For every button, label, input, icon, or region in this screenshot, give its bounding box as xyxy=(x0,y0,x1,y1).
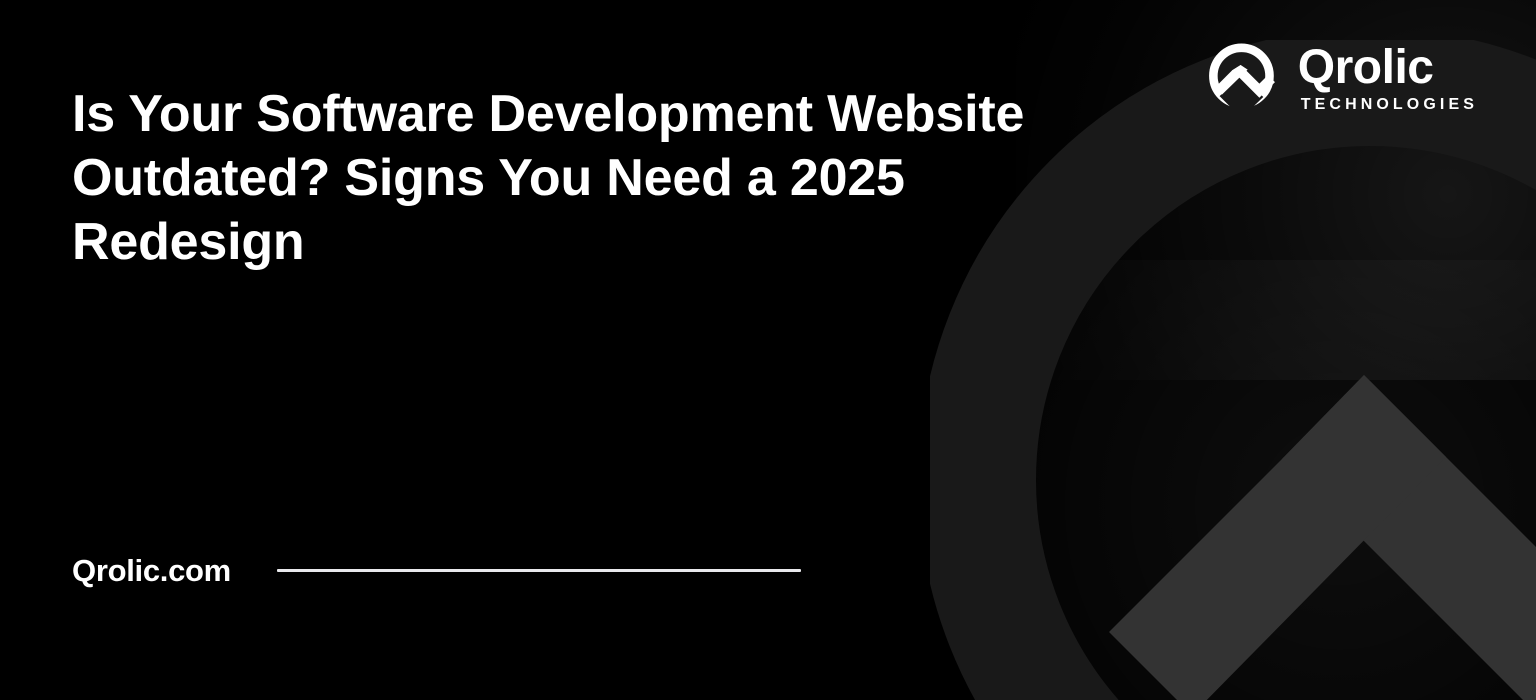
brand-text: Qrolic TECHNOLOGIES xyxy=(1298,43,1478,115)
brand-name: Qrolic xyxy=(1298,43,1434,93)
qrolic-logo-icon xyxy=(1204,40,1282,118)
brand-lockup: Qrolic TECHNOLOGIES xyxy=(1204,40,1478,118)
footer-site-url: Qrolic.com xyxy=(72,555,231,586)
cover-canvas: Is Your Software Development Website Out… xyxy=(0,0,1536,700)
brand-tagline: TECHNOLOGIES xyxy=(1301,95,1478,115)
page-title: Is Your Software Development Website Out… xyxy=(72,82,1032,274)
footer-divider xyxy=(277,569,801,572)
footer: Qrolic.com xyxy=(72,555,801,586)
bottom-right-glow xyxy=(1036,260,1536,700)
